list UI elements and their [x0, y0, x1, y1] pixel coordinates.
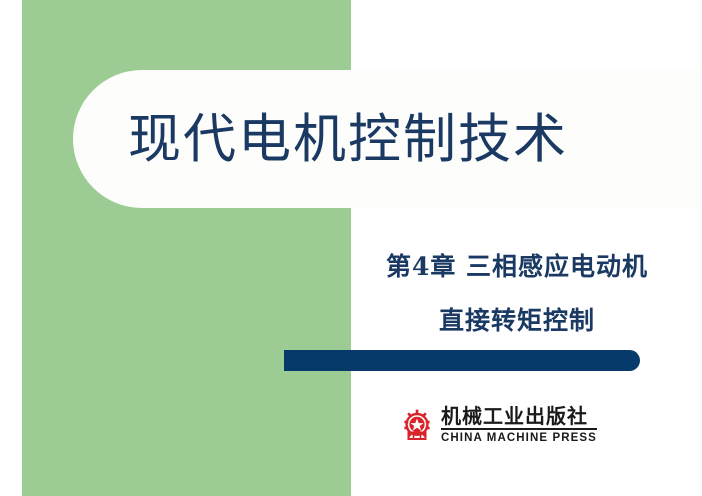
chapter-subtitle-line-1: 第4章 三相感应电动机	[352, 240, 682, 294]
gear-star-emblem-icon	[400, 408, 434, 442]
publisher-name-block: 机械工业出版社 CHINA MACHINE PRESS	[441, 406, 597, 445]
publisher-logo: 机械工业出版社 CHINA MACHINE PRESS	[400, 406, 597, 445]
presentation-slide: 现代电机控制技术 第4章 三相感应电动机 直接转矩控制	[0, 0, 702, 496]
publisher-name-en: CHINA MACHINE PRESS	[441, 433, 597, 445]
publisher-name-cn: 机械工业出版社	[441, 406, 597, 430]
accent-bar	[284, 350, 640, 371]
chapter-subtitle-line-2: 直接转矩控制	[352, 294, 682, 348]
page-title: 现代电机控制技术	[128, 92, 688, 188]
chapter-subtitle: 第4章 三相感应电动机 直接转矩控制	[352, 240, 682, 348]
